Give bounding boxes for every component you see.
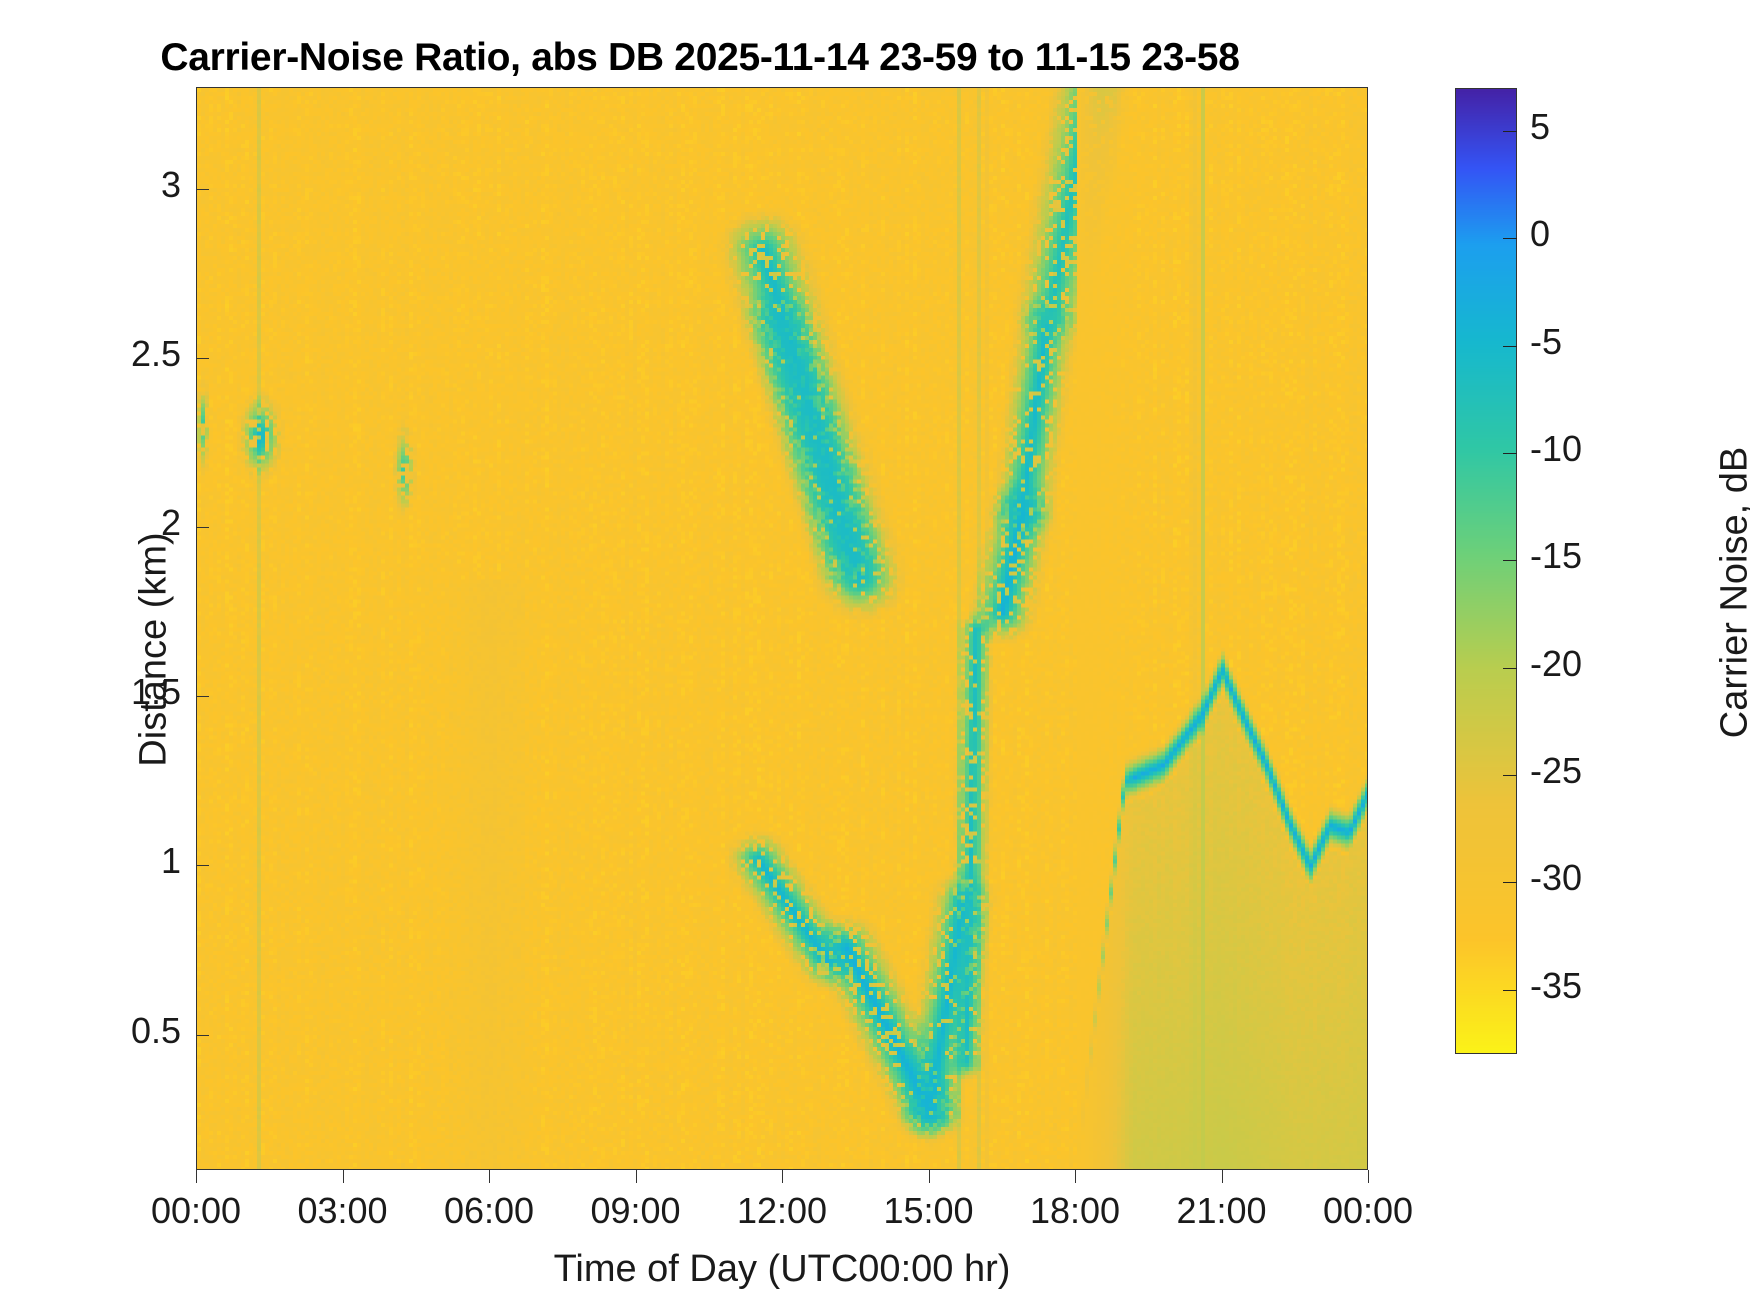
y-tick-mark — [196, 189, 209, 190]
y-tick-mark — [196, 865, 209, 866]
colorbar-tick-label: -15 — [1530, 535, 1582, 577]
y-axis-label: Distance (km) — [133, 300, 176, 1000]
colorbar-tick-mark — [1503, 238, 1517, 239]
y-tick-mark — [196, 696, 209, 697]
figure-root: Carrier-Noise Ratio, abs DB 2025-11-14 2… — [0, 0, 1750, 1313]
colorbar-tick-mark — [1503, 668, 1517, 669]
colorbar-label: Carrier Noise, dB — [1714, 243, 1750, 943]
colorbar-tick-label: -20 — [1530, 643, 1582, 685]
x-tick-mark — [1075, 1170, 1076, 1183]
y-tick-mark — [196, 1035, 209, 1036]
y-tick-mark — [196, 358, 209, 359]
colorbar-tick-label: -35 — [1530, 965, 1582, 1007]
x-tick-mark — [343, 1170, 344, 1183]
colorbar-tick-mark — [1503, 990, 1517, 991]
y-tick-label: 1.5 — [6, 671, 181, 713]
colorbar-tick-label: 0 — [1530, 213, 1550, 255]
colorbar[interactable] — [1455, 88, 1517, 1054]
colorbar-tick-label: 5 — [1530, 106, 1550, 148]
y-tick-label: 0.5 — [6, 1010, 181, 1052]
heatmap-axes[interactable] — [196, 87, 1368, 1170]
x-tick-mark — [1368, 1170, 1369, 1183]
colorbar-tick-mark — [1503, 775, 1517, 776]
colorbar-gradient — [1456, 89, 1517, 1054]
x-tick-mark — [782, 1170, 783, 1183]
x-tick-mark — [636, 1170, 637, 1183]
y-tick-label: 3 — [6, 164, 181, 206]
x-tick-label: 00:00 — [1258, 1190, 1478, 1232]
colorbar-tick-mark — [1503, 882, 1517, 883]
colorbar-tick-mark — [1503, 453, 1517, 454]
heatmap-image — [197, 88, 1368, 1170]
colorbar-tick-mark — [1503, 346, 1517, 347]
colorbar-tick-label: -25 — [1530, 750, 1582, 792]
colorbar-tick-mark — [1503, 560, 1517, 561]
y-tick-label: 1 — [6, 840, 181, 882]
colorbar-tick-mark — [1503, 131, 1517, 132]
x-tick-mark — [489, 1170, 490, 1183]
x-tick-mark — [196, 1170, 197, 1183]
x-axis-label: Time of Day (UTC00:00 hr) — [196, 1248, 1368, 1291]
y-tick-mark — [196, 527, 209, 528]
chart-title: Carrier-Noise Ratio, abs DB 2025-11-14 2… — [0, 36, 1400, 80]
colorbar-tick-label: -10 — [1530, 428, 1582, 470]
colorbar-tick-label: -5 — [1530, 321, 1562, 363]
x-tick-mark — [929, 1170, 930, 1183]
y-tick-label: 2.5 — [6, 333, 181, 375]
colorbar-tick-label: -30 — [1530, 857, 1582, 899]
y-tick-label: 2 — [6, 502, 181, 544]
x-tick-mark — [1222, 1170, 1223, 1183]
